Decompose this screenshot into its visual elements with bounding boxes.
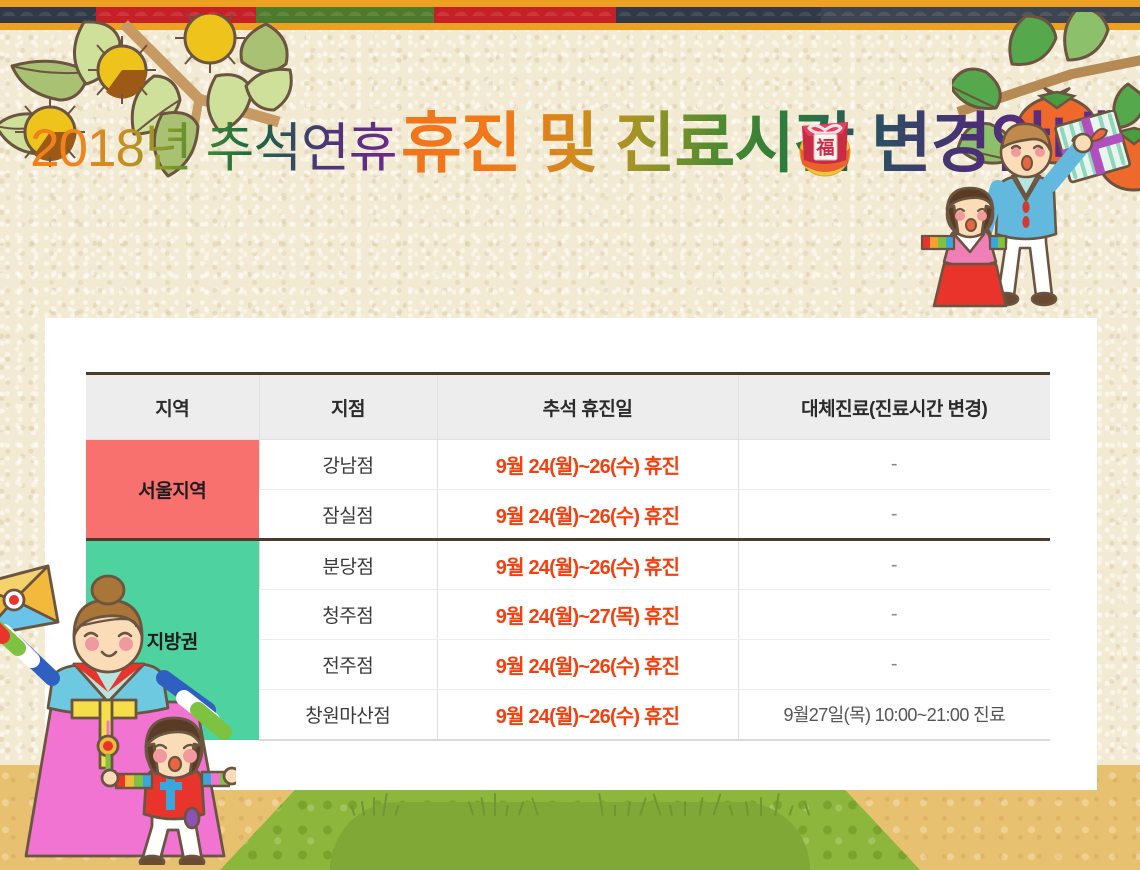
title-line-2: 휴진 및 진료시간 변경안내	[401, 104, 1110, 182]
branch-cell: 잠실점	[259, 490, 437, 540]
header-alternative: 대체진료(진료시간 변경)	[738, 374, 1050, 440]
grass-tuft	[373, 797, 375, 816]
holiday-date-cell: 9월 24(월)~27(목) 휴진	[437, 590, 738, 640]
alternative-care-cell: -	[738, 490, 1050, 540]
poster-title-block: 2018년 추석연휴 휴진 및 진료시간 변경안내	[0, 104, 1140, 182]
branch-cell: 창원마산점	[259, 690, 437, 740]
alternative-care-cell: -	[738, 540, 1050, 590]
holiday-schedule-table: 지역 지점 추석 휴진일 대체진료(진료시간 변경) 서울지역강남점9월 24(…	[86, 372, 1050, 741]
grass-tuft	[614, 805, 616, 816]
region-cell-seoul: 서울지역	[86, 440, 259, 540]
luck-bag-icon: 福	[790, 108, 860, 185]
table-header: 지역 지점 추석 휴진일 대체진료(진료시간 변경)	[86, 374, 1050, 440]
holiday-date-cell: 9월 24(월)~26(수) 휴진	[437, 690, 738, 740]
alternative-care-cell: -	[738, 590, 1050, 640]
holiday-date-cell: 9월 24(월)~26(수) 휴진	[437, 440, 738, 490]
header-branch: 지점	[259, 374, 437, 440]
bottom-hill-shadow	[330, 802, 810, 870]
branch-cell: 분당점	[259, 540, 437, 590]
alternative-care-cell: -	[738, 640, 1050, 690]
luck-bag-char: 福	[816, 137, 835, 159]
holiday-date-cell: 9월 24(월)~26(수) 휴진	[437, 540, 738, 590]
branch-cell: 청주점	[259, 590, 437, 640]
alternative-care-cell: 9월27일(목) 10:00~21:00 진료	[738, 690, 1050, 740]
region-cell-local: 지방권	[86, 540, 259, 740]
branch-cell: 강남점	[259, 440, 437, 490]
header-region: 지역	[86, 374, 259, 440]
grass-tuft	[684, 801, 686, 816]
table-row: 지방권분당점9월 24(월)~26(수) 휴진-	[86, 540, 1050, 590]
holiday-date-cell: 9월 24(월)~26(수) 휴진	[437, 640, 738, 690]
holiday-notice-poster: 福 2018년 추석연휴 휴진 및 진료시간 변경안내 지역 지점 추석 휴진일…	[0, 0, 1140, 870]
alternative-care-cell: -	[738, 440, 1050, 490]
header-holiday: 추석 휴진일	[437, 374, 738, 440]
title-line-1: 2018년 추석연휴	[30, 118, 396, 180]
holiday-date-cell: 9월 24(월)~26(수) 휴진	[437, 490, 738, 540]
grass-tuft	[760, 797, 762, 816]
table-row: 서울지역강남점9월 24(월)~26(수) 휴진-	[86, 440, 1050, 490]
table-header-row: 지역 지점 추석 휴진일 대체진료(진료시간 변경)	[86, 374, 1050, 440]
branch-cell: 전주점	[259, 640, 437, 690]
banner-orange-top-line	[0, 0, 1140, 7]
banner-orange-bottom-line	[0, 23, 1140, 30]
grass-tuft	[494, 793, 496, 816]
table-body: 서울지역강남점9월 24(월)~26(수) 휴진-잠실점9월 24(월)~26(…	[86, 440, 1050, 740]
